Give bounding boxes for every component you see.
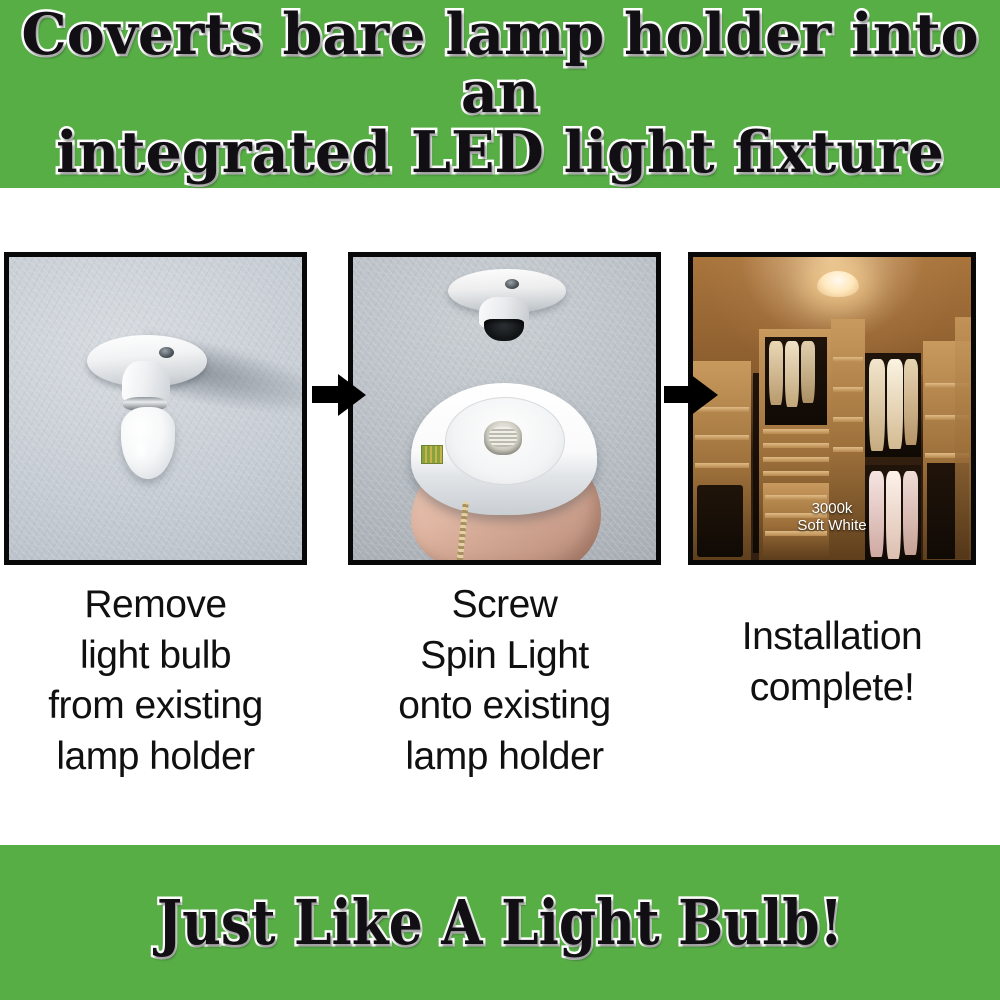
step-1-photo <box>4 252 307 565</box>
caption-line: onto existing <box>348 681 661 732</box>
canopy-screw-icon <box>159 347 174 358</box>
step-3-caption: Installation complete! <box>688 612 976 713</box>
hanging-garment <box>887 359 903 449</box>
hanging-garment <box>904 359 918 445</box>
color-temp-name: Soft White <box>693 518 971 535</box>
closet-shelf <box>833 387 863 392</box>
arrow-head <box>690 374 718 416</box>
caption-line: from existing <box>4 681 307 732</box>
caption-line: Installation <box>688 612 976 663</box>
closet-shelf <box>695 435 749 440</box>
installed-led-fixture <box>817 271 859 297</box>
hanging-garment <box>801 341 815 403</box>
header-line-2: integrated LED light fixture <box>56 124 944 182</box>
footer-banner: Just Like A Light Bulb! <box>0 845 1000 1000</box>
step-2-photo <box>348 252 661 565</box>
canopy-screw-icon <box>505 279 519 289</box>
led-circuit-board <box>421 445 443 464</box>
steps-photo-row: 3000k Soft White <box>0 252 1000 565</box>
arrow-step2-to-step3-icon <box>664 374 720 416</box>
closet-shelf <box>695 463 749 468</box>
closet-shelf <box>763 429 829 434</box>
step-1-caption: Remove light bulb from existing lamp hol… <box>4 580 307 783</box>
arrow-head <box>338 374 366 416</box>
caption-line: complete! <box>688 663 976 714</box>
caption-line: lamp holder <box>348 732 661 783</box>
closet-shelf <box>833 357 863 362</box>
steps-caption-row: Remove light bulb from existing lamp hol… <box>0 580 1000 840</box>
closet-shelf <box>833 447 863 452</box>
color-temperature-overlay: 3000k Soft White <box>693 501 971 534</box>
header-banner: Coverts bare lamp holder into an integra… <box>0 0 1000 188</box>
fixture-screw-threads <box>489 427 517 447</box>
hanging-garment <box>769 341 783 405</box>
footer-line-1: Just Like A Light Bulb! <box>157 891 843 954</box>
color-temp-value: 3000k <box>693 501 971 518</box>
closet-shelf <box>763 443 829 448</box>
product-infographic: Coverts bare lamp holder into an integra… <box>0 0 1000 1000</box>
caption-line: Screw <box>348 580 661 631</box>
closet-shelf <box>763 471 829 476</box>
arrow-step1-to-step2-icon <box>312 374 368 416</box>
caption-line: Spin Light <box>348 631 661 682</box>
closet-shelf <box>763 457 829 462</box>
bulb-highlight <box>133 439 149 461</box>
caption-line: light bulb <box>4 631 307 682</box>
header-line-1: Coverts bare lamp holder into an <box>0 6 1000 122</box>
closet-shelf <box>833 417 863 422</box>
step-2-caption: Screw Spin Light onto existing lamp hold… <box>348 580 661 783</box>
caption-line: Remove <box>4 580 307 631</box>
hanging-garment <box>869 359 885 451</box>
step-3-photo: 3000k Soft White <box>688 252 976 565</box>
caption-line: lamp holder <box>4 732 307 783</box>
hanging-garment <box>785 341 799 407</box>
